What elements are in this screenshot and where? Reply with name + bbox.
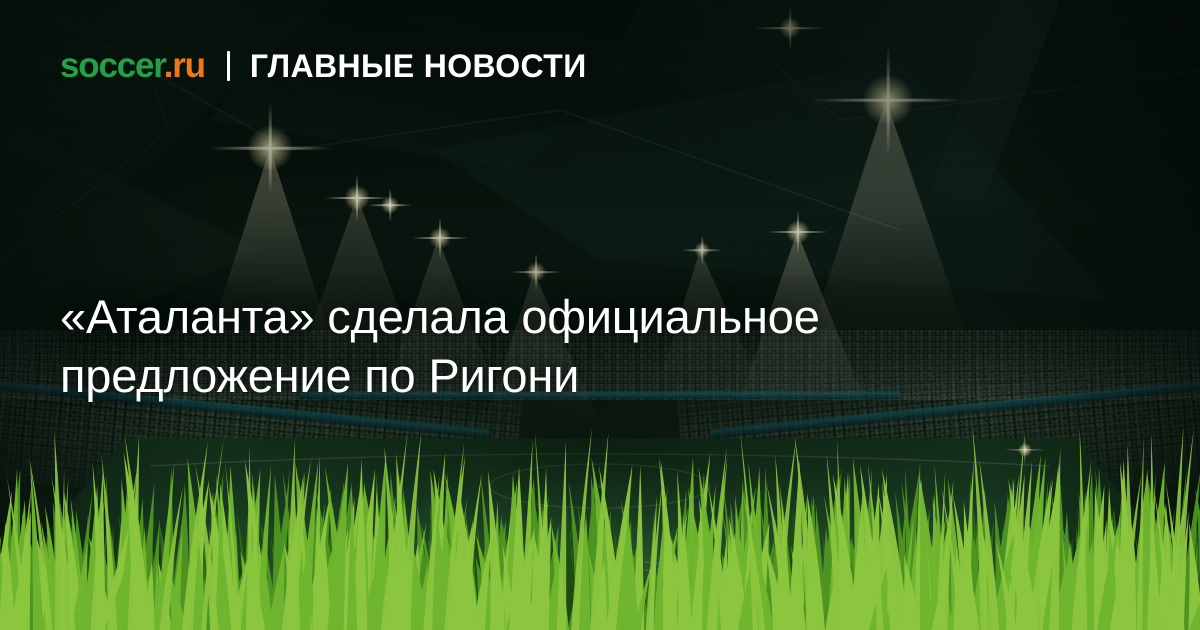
headline-line-2: предложение по Ригони bbox=[60, 346, 1120, 405]
logo-word: soccer bbox=[60, 46, 164, 85]
logo-tld: .ru bbox=[164, 46, 205, 85]
share-card: soccer.ru ГЛАВНЫЕ НОВОСТИ «Аталанта» сде… bbox=[0, 0, 1200, 630]
card-header: soccer.ru ГЛАВНЫЕ НОВОСТИ bbox=[60, 48, 587, 83]
soccer-ru-logo[interactable]: soccer.ru bbox=[60, 48, 205, 83]
headline-line-1: «Аталанта» сделала официальное bbox=[60, 287, 1120, 346]
header-kicker: ГЛАВНЫЕ НОВОСТИ bbox=[250, 50, 587, 82]
foreground-grass bbox=[0, 410, 1200, 630]
header-divider bbox=[227, 51, 230, 81]
page-title: «Аталанта» сделала официальное предложен… bbox=[60, 287, 1120, 405]
